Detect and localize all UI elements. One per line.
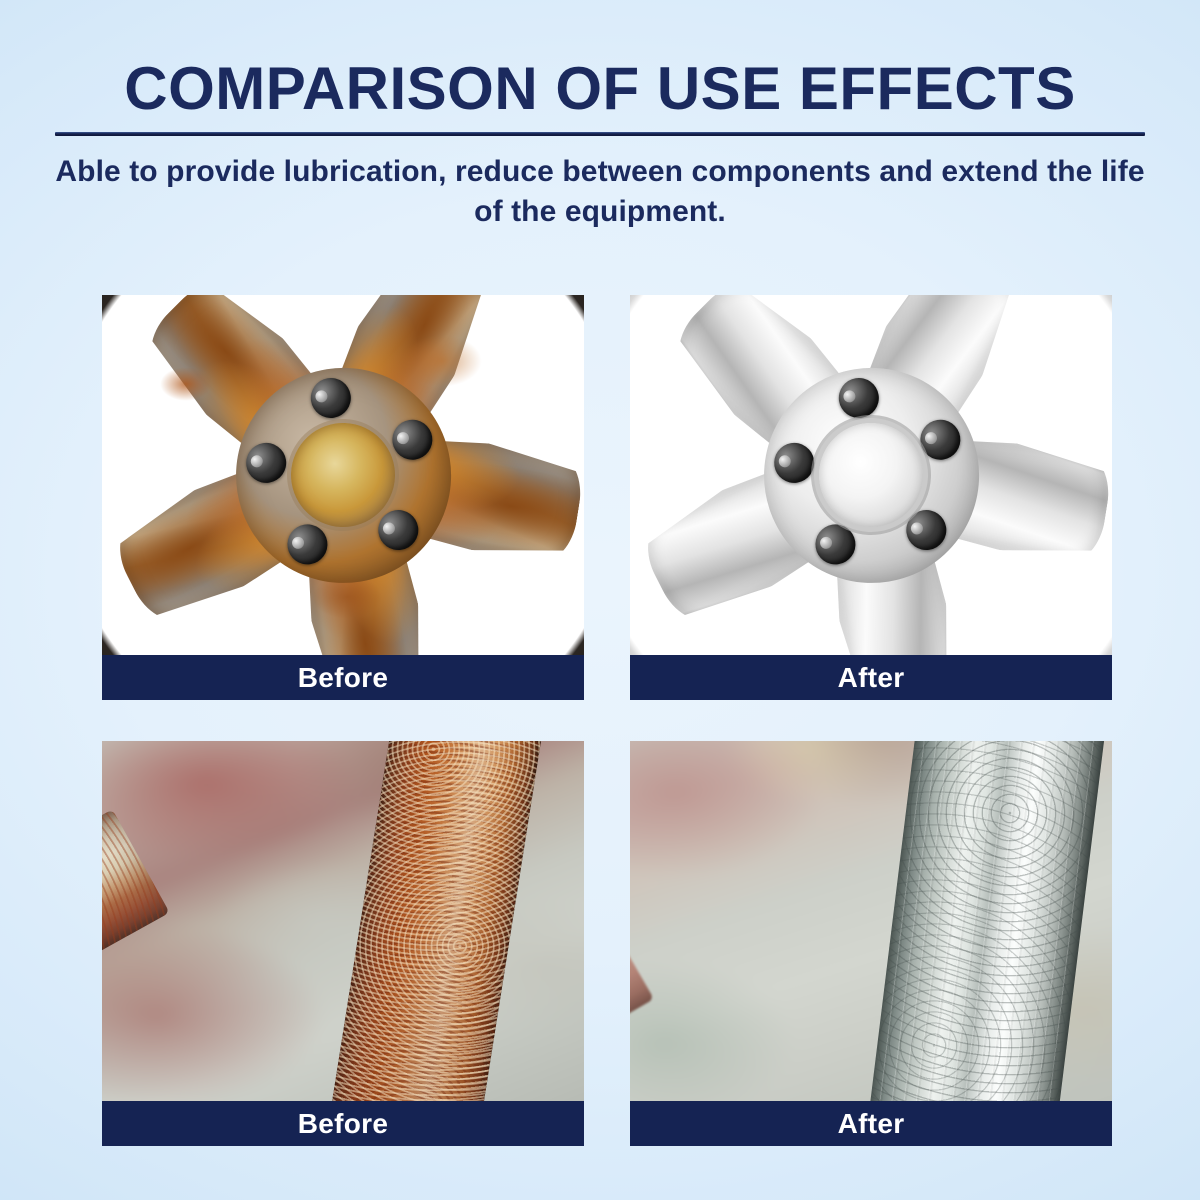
- caption-before-wheel: Before: [102, 655, 584, 700]
- panel-wheel-before: Before: [102, 295, 584, 700]
- wheel-graphic-rusty: [102, 295, 584, 655]
- wheel-graphic-clean: [630, 295, 1112, 655]
- title-divider: [55, 132, 1145, 136]
- panel-pipe-after: After: [630, 741, 1112, 1146]
- caption-after-pipe: After: [630, 1101, 1112, 1146]
- pipe-scene-clean: [630, 741, 1112, 1101]
- caption-after-wheel: After: [630, 655, 1112, 700]
- page-subtitle: Able to provide lubrication, reduce betw…: [55, 152, 1145, 232]
- comparison-row-wheel: Before: [102, 295, 1112, 700]
- page-title: COMPARISON OF USE EFFECTS: [0, 58, 1200, 120]
- rusty-metal-pipe-photo: [102, 741, 584, 1101]
- wheel-scene-clean: [630, 295, 1112, 655]
- header: COMPARISON OF USE EFFECTS Able to provid…: [0, 58, 1200, 232]
- product-comparison-page: COMPARISON OF USE EFFECTS Able to provid…: [0, 0, 1200, 1200]
- wheel-scene-rusty: [102, 295, 584, 655]
- panel-pipe-before: Before: [102, 741, 584, 1146]
- caption-before-pipe: Before: [102, 1101, 584, 1146]
- panel-wheel-after: After: [630, 295, 1112, 700]
- clean-alloy-wheel-photo: [630, 295, 1112, 655]
- pipe-scene-rusty: [102, 741, 584, 1101]
- comparison-grid: Before: [102, 295, 1112, 1146]
- comparison-row-pipe: Before After: [102, 741, 1112, 1146]
- rusty-alloy-wheel-photo: [102, 295, 584, 655]
- clean-metal-pipe-photo: [630, 741, 1112, 1101]
